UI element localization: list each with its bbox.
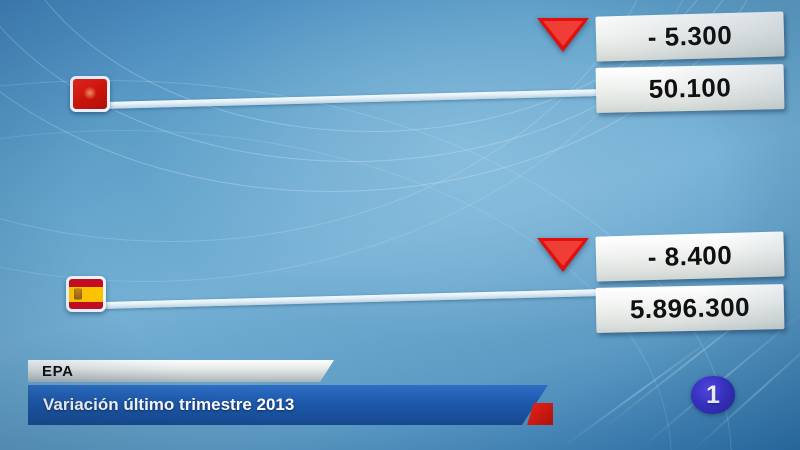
caption-text: Variación último trimestre 2013 <box>43 395 294 415</box>
change-value-text: - 8.400 <box>647 240 732 273</box>
channel-logo-text: 1 <box>706 383 720 408</box>
change-value-text: - 5.300 <box>647 20 732 53</box>
channel-logo: 1 <box>691 376 735 414</box>
change-value-chip: - 8.400 <box>595 231 784 281</box>
broadcast-graphic: - 5.300 50.100 - 8.400 5.896.300 EPA Var… <box>0 0 800 450</box>
decrease-triangle-icon <box>537 18 589 52</box>
flag-coat-of-arms-icon <box>74 289 82 300</box>
region-flag-icon <box>70 76 110 112</box>
caption-banner: Variación último trimestre 2013 <box>28 385 548 425</box>
source-label: EPA <box>42 363 74 380</box>
total-value-text: 50.100 <box>648 72 731 105</box>
value-bar <box>105 289 603 309</box>
total-value-text: 5.896.300 <box>630 292 751 326</box>
flag-emblem-icon <box>84 87 97 100</box>
change-value-chip: - 5.300 <box>595 11 784 61</box>
total-value-chip: 5.896.300 <box>596 284 785 333</box>
source-banner: EPA <box>28 360 334 382</box>
decrease-triangle-icon <box>537 238 589 272</box>
spain-flag-icon <box>66 276 106 312</box>
value-bar <box>105 89 603 109</box>
total-value-chip: 50.100 <box>596 64 785 113</box>
